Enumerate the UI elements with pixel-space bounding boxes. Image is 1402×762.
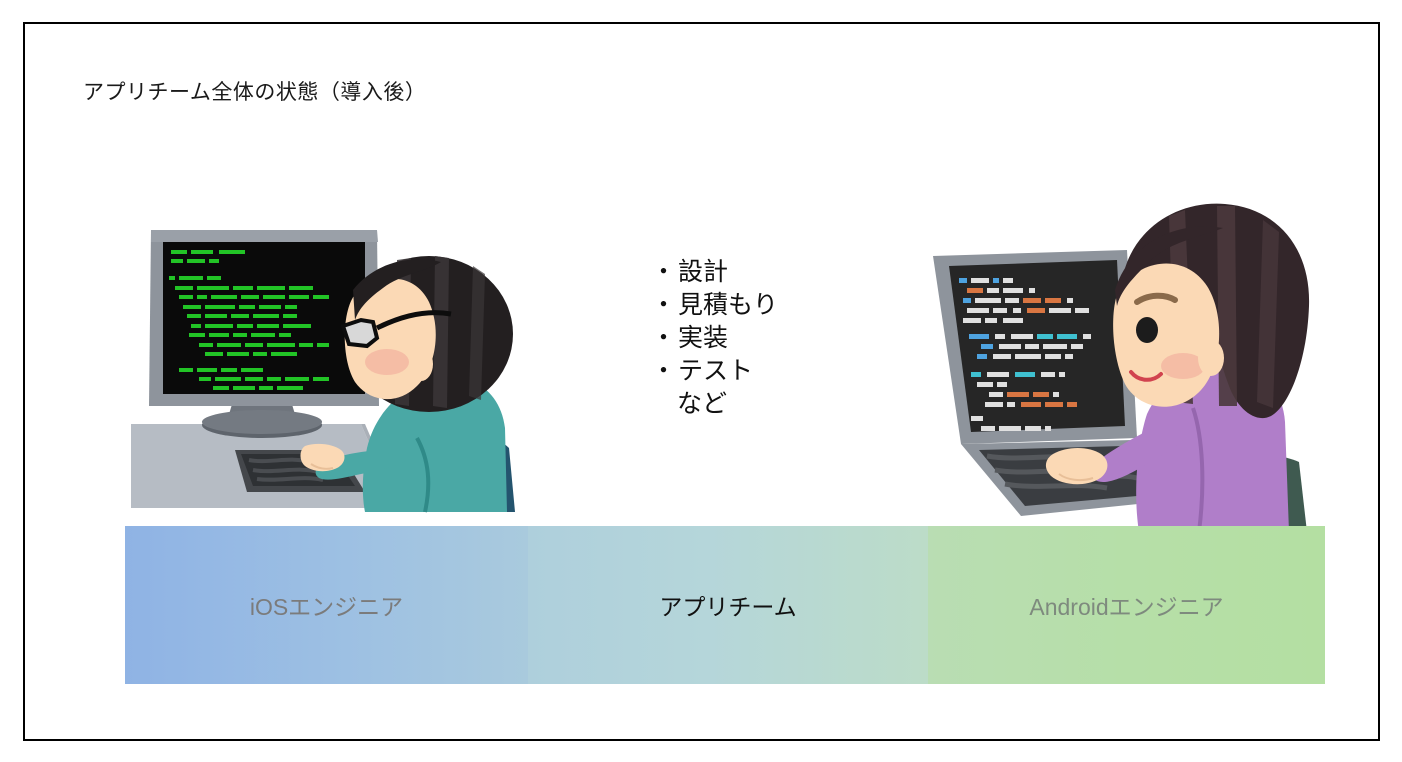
bar-segment-android: Androidエンジニア (928, 526, 1325, 684)
list-item: ・テスト (651, 355, 778, 388)
bullet-icon: ・ (651, 291, 676, 319)
bullet-icon: ・ (651, 357, 676, 385)
list-item-label: テスト (678, 357, 753, 385)
bar-segment-label-ios: iOSエンジニア (125, 588, 528, 622)
task-list: ・設計 ・見積もり ・実装 ・テスト など (651, 256, 778, 421)
list-item: ・実装 (651, 322, 778, 355)
slide-canvas: アプリチーム全体の状態（導入後） (0, 0, 1402, 762)
laptop-screen (933, 250, 1137, 444)
person-head (343, 256, 513, 412)
list-item-label: 見積もり (678, 291, 778, 319)
bar-segment-ios: iOSエンジニア (125, 526, 528, 684)
list-item-label: 設計 (678, 258, 728, 286)
list-item: ・見積もり (651, 289, 778, 322)
list-item: ・設計 (651, 256, 778, 289)
bar-segment-label-app-team: アプリチーム (528, 588, 928, 622)
bullet-icon: ・ (651, 258, 676, 286)
android-engineer-illustration (925, 194, 1325, 534)
list-tail-label: など (651, 388, 778, 421)
team-gradient-bar: iOSエンジニア アプリチーム Androidエンジニア (125, 526, 1325, 684)
ios-engineer-illustration (129, 216, 529, 516)
eye (1136, 317, 1158, 343)
page-title: アプリチーム全体の状態（導入後） (83, 78, 426, 108)
bar-segment-app-team: アプリチーム (528, 526, 928, 684)
bullet-icon: ・ (651, 324, 676, 352)
monitor-stand (202, 401, 322, 438)
list-item-label: 実装 (678, 324, 728, 352)
slide-frame: アプリチーム全体の状態（導入後） (23, 22, 1380, 741)
person-hand (1046, 448, 1107, 484)
bar-segment-label-android: Androidエンジニア (928, 588, 1325, 622)
computer-monitor (149, 230, 379, 406)
